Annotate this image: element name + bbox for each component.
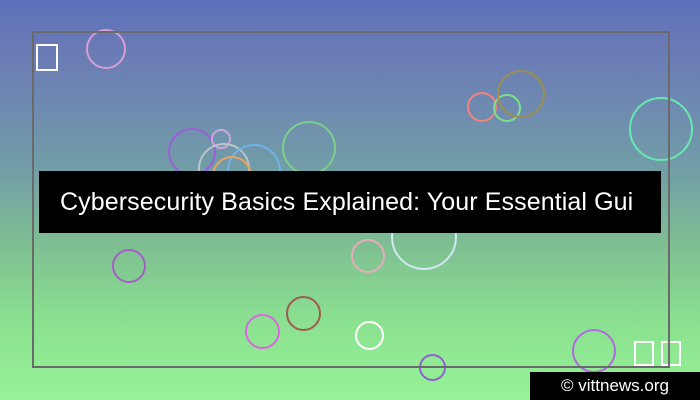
watermark-badge: © vittnews.org — [530, 372, 700, 400]
page-title: Cybersecurity Basics Explained: Your Ess… — [39, 188, 633, 217]
title-bar: Cybersecurity Basics Explained: Your Ess… — [39, 171, 661, 233]
watermark-text: © vittnews.org — [561, 376, 669, 396]
article-banner: Cybersecurity Basics Explained: Your Ess… — [0, 0, 700, 400]
